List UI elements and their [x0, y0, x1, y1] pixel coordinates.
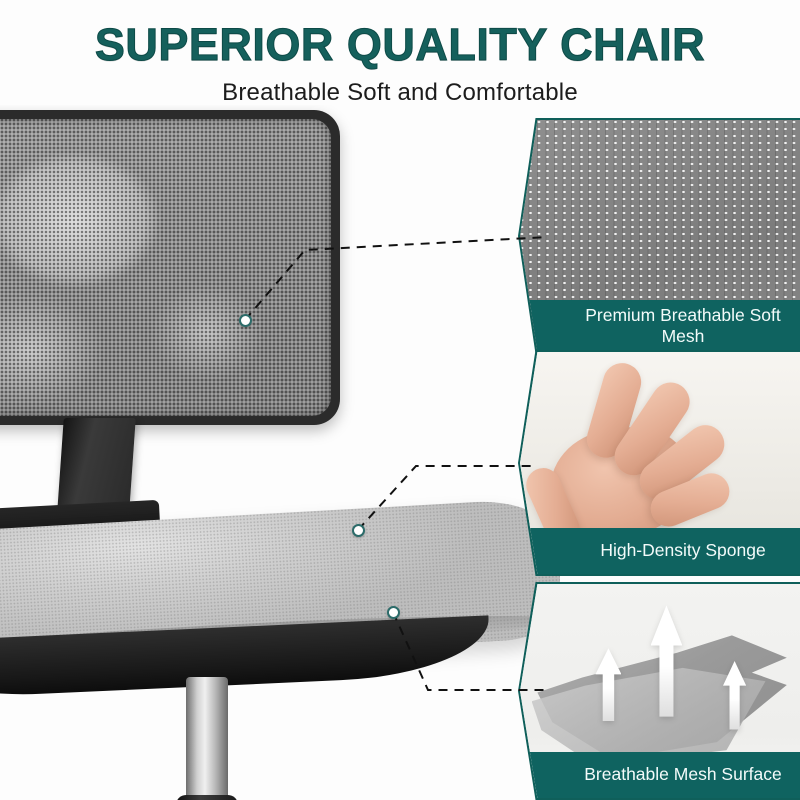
feature-panel-breathable-mesh-surface[interactable]: Breathable Mesh Surface	[518, 582, 800, 800]
product-photo	[0, 105, 560, 800]
hand-graphic	[532, 365, 758, 551]
callout-marker-mesh[interactable]	[239, 314, 252, 327]
feature-caption-high-density-sponge: High-Density Sponge	[520, 528, 800, 574]
panel-face: Premium Breathable Soft Mesh	[520, 120, 800, 352]
panel-face: High-Density Sponge	[520, 352, 800, 574]
panel-face: Breathable Mesh Surface	[520, 584, 800, 798]
airflow-arrow-left-icon	[595, 648, 621, 721]
cylinder-cap	[176, 795, 238, 800]
feature-caption-premium-mesh: Premium Breathable Soft Mesh	[520, 300, 800, 352]
backrest-inner-edge	[0, 119, 331, 416]
chair-backrest	[0, 110, 340, 425]
page-title: SUPERIOR QUALITY CHAIR	[0, 0, 800, 67]
callout-marker-sponge[interactable]	[352, 524, 365, 537]
feature-panel-premium-mesh[interactable]: Premium Breathable Soft Mesh	[518, 118, 800, 354]
feature-panel-high-density-sponge[interactable]: High-Density Sponge	[518, 350, 800, 576]
feature-caption-breathable-mesh-surface: Breathable Mesh Surface	[520, 752, 800, 798]
header: SUPERIOR QUALITY CHAIR Breathable Soft a…	[0, 0, 800, 112]
infographic-canvas: SUPERIOR QUALITY CHAIR Breathable Soft a…	[0, 0, 800, 800]
airflow-arrow-right-icon	[723, 661, 746, 729]
gas-lift-cylinder	[186, 677, 228, 800]
page-subtitle: Breathable Soft and Comfortable	[0, 67, 800, 107]
callout-marker-surface[interactable]	[387, 606, 400, 619]
airflow-arrow-center-icon	[651, 605, 683, 716]
